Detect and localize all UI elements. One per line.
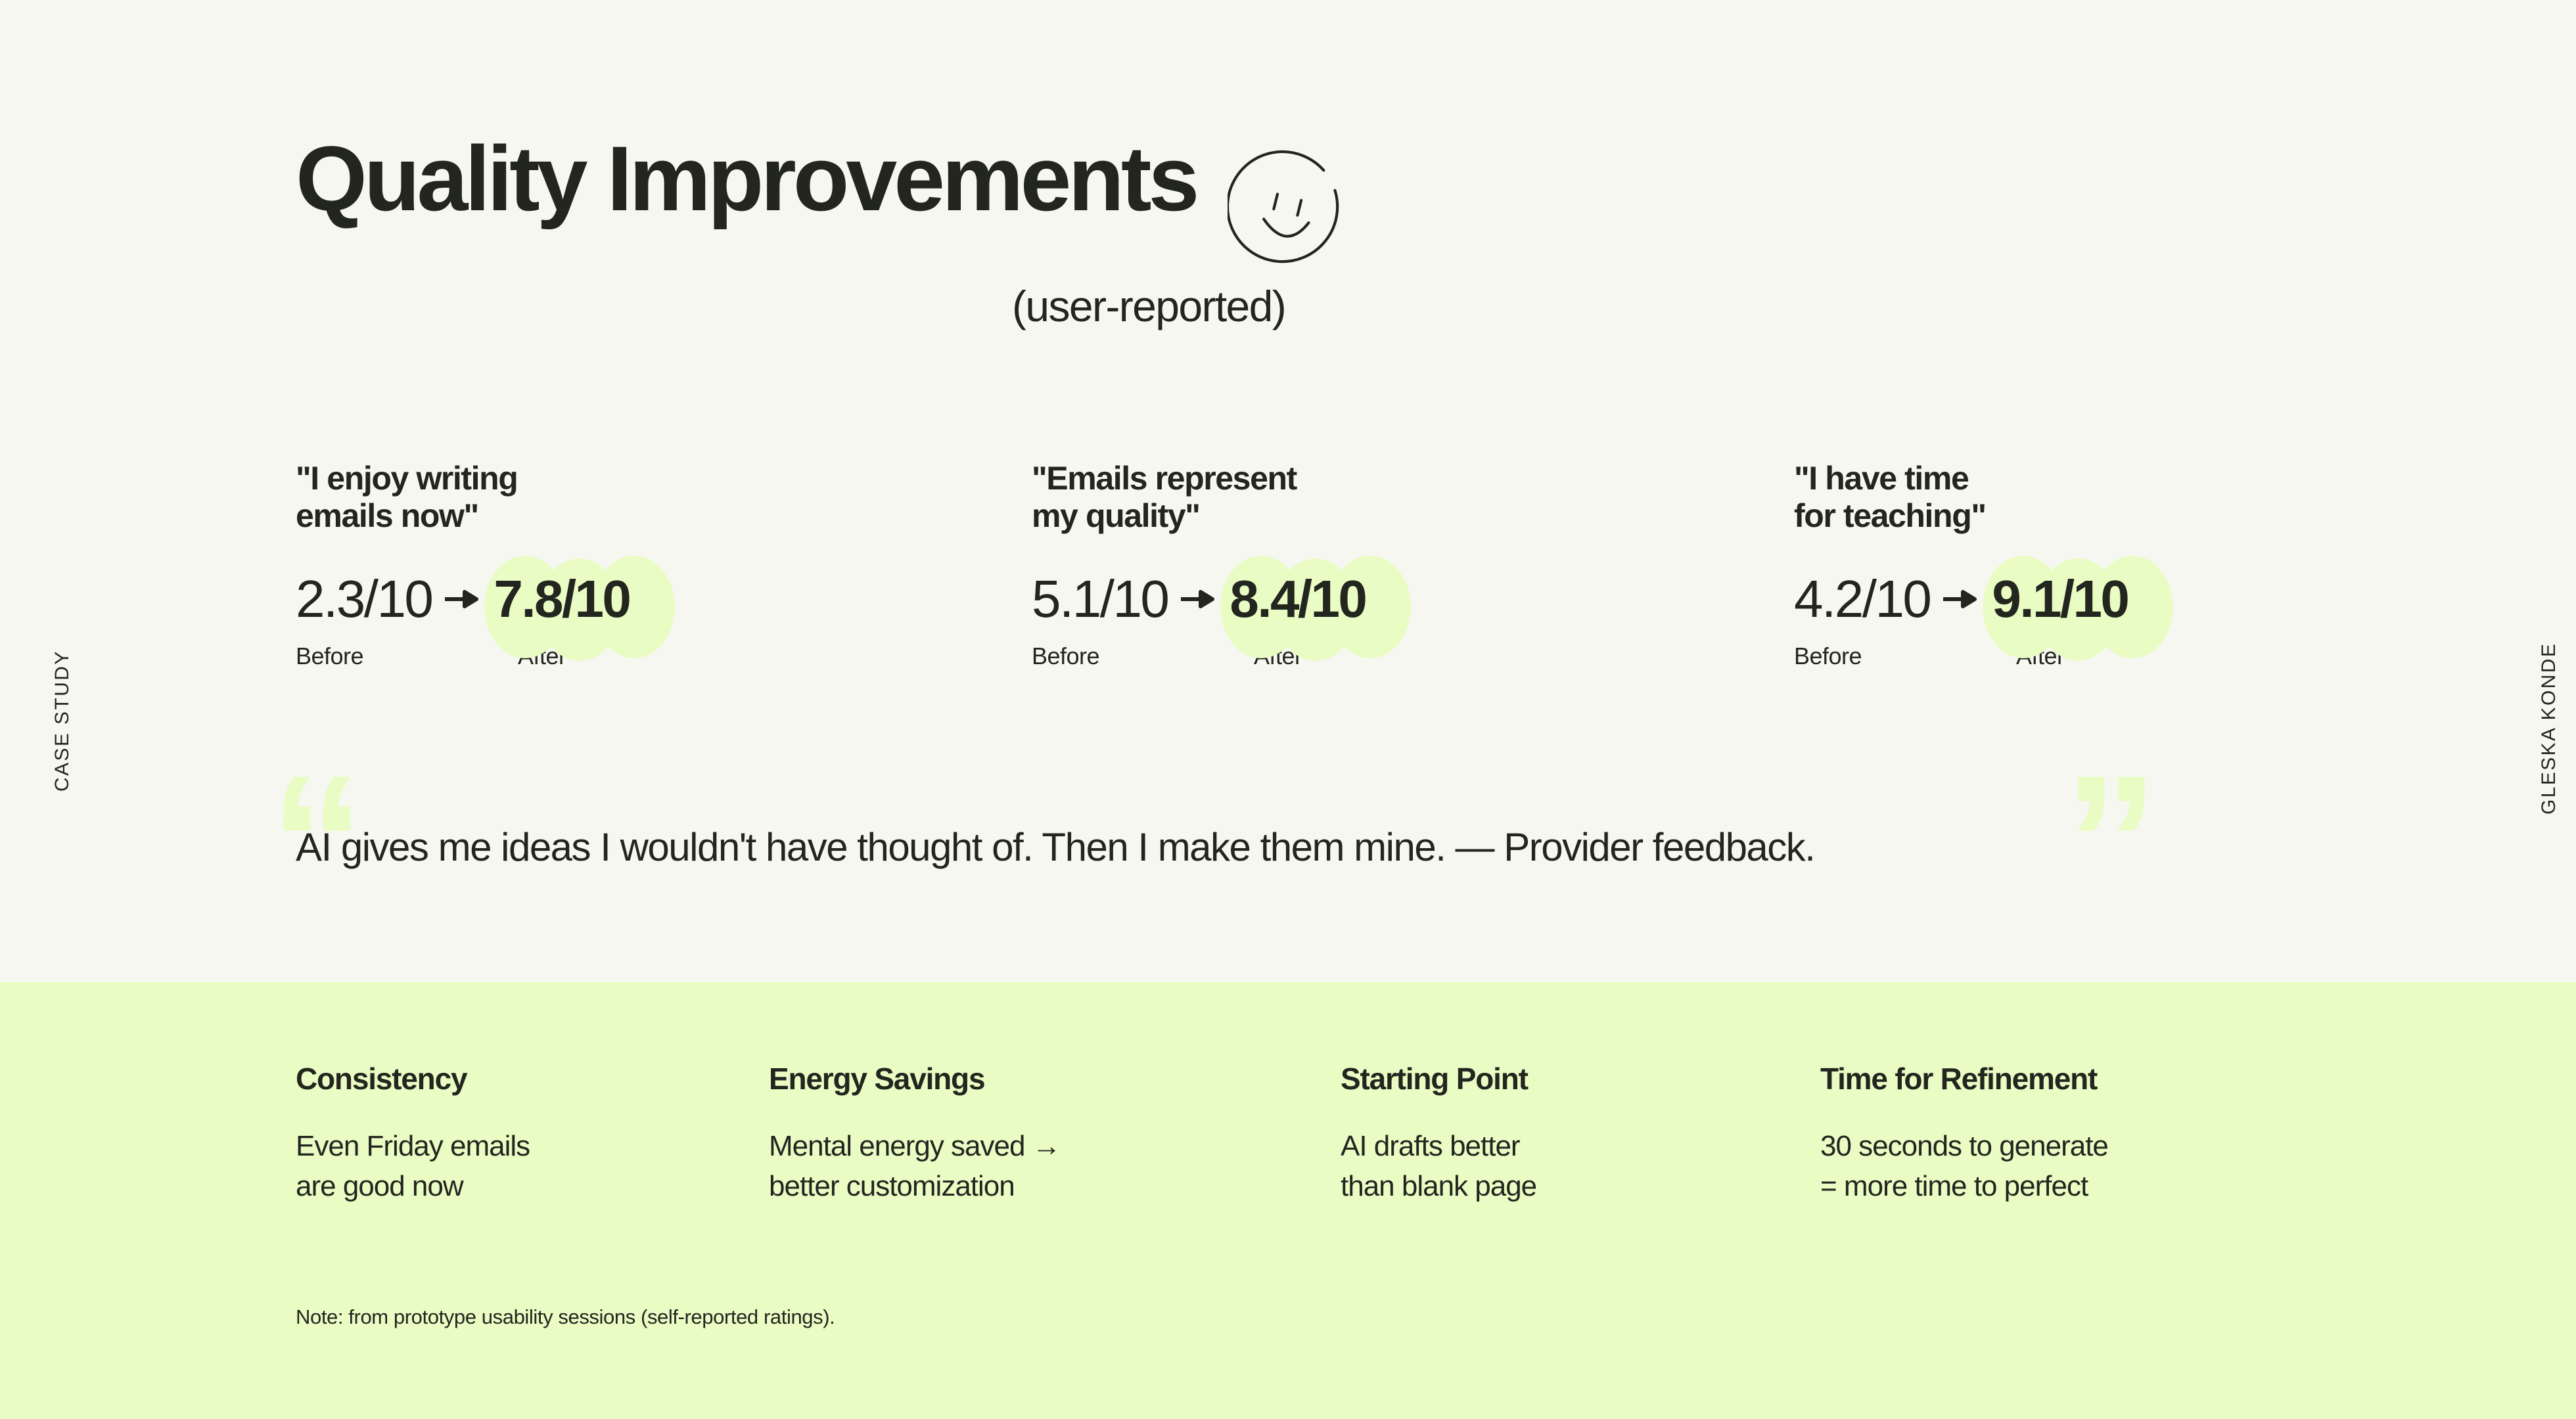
after-value-3: 9.1/10 (1992, 570, 2128, 628)
before-label-3: Before (1794, 642, 2016, 670)
footer-card-consistency: Consistency Even Friday emails are good … (296, 1061, 769, 1206)
card-title: Time for Refinement (1820, 1061, 2320, 1096)
footer-card-time-for-refinement: Time for Refinement 30 seconds to genera… (1820, 1061, 2320, 1206)
case-study-rail-label: CASE STUDY (51, 650, 74, 792)
stat-labels-1: Before After (296, 642, 1032, 670)
stat-quote-1: "I enjoy writing emails now" (296, 460, 1032, 535)
stat-column-2: "Emails represent my quality" 5.1/10 (1032, 460, 1794, 670)
stat-column-3: "I have time for teaching" 4.2/10 (1794, 460, 2307, 670)
after-label-2: After (1254, 642, 1302, 670)
page-title: Quality Improvements (296, 135, 1196, 222)
after-value-wrap-1: 7.8/10 (494, 573, 630, 625)
quote-mark-close-icon: ” (2063, 747, 2159, 937)
stat-values-1: 2.3/10 (296, 573, 1032, 625)
card-body: Mental energy saved → better customizati… (769, 1127, 1341, 1206)
stat-values-3: 4.2/10 (1794, 573, 2307, 625)
after-value-wrap-3: 9.1/10 (1992, 573, 2128, 625)
pull-quote-block: “ ” AI gives me ideas I wouldn't have th… (296, 824, 1814, 870)
card-title: Starting Point (1341, 1061, 1820, 1096)
footer-cards: Consistency Even Friday emails are good … (296, 1061, 2320, 1206)
arrow-right-icon (444, 586, 482, 612)
stat-labels-3: Before After (1794, 642, 2307, 670)
footer-card-energy-savings: Energy Savings Mental energy saved → bet… (769, 1061, 1341, 1206)
card-body: Even Friday emails are good now (296, 1127, 769, 1206)
after-value-1: 7.8/10 (494, 570, 630, 628)
stat-column-1: "I enjoy writing emails now" 2.3/10 (296, 460, 1032, 670)
card-body: 30 seconds to generate = more time to pe… (1820, 1127, 2320, 1206)
before-value-3: 4.2/10 (1794, 573, 1930, 625)
arrow-right-icon (1180, 586, 1218, 612)
after-label-3: After (2016, 642, 2065, 670)
footer-card-starting-point: Starting Point AI drafts better than bla… (1341, 1061, 1820, 1206)
card-body: AI drafts better than blank page (1341, 1127, 1820, 1206)
stat-quote-3: "I have time for teaching" (1794, 460, 2307, 535)
title-row: Quality Improvements (296, 135, 1352, 277)
before-label-1: Before (296, 642, 518, 670)
after-value-2: 8.4/10 (1230, 570, 1366, 628)
before-value-1: 2.3/10 (296, 573, 432, 625)
stat-values-2: 5.1/10 (1032, 573, 1794, 625)
smiley-face-icon (1228, 149, 1352, 277)
before-label-2: Before (1032, 642, 1254, 670)
pull-quote-text: AI gives me ideas I wouldn't have though… (296, 824, 1814, 870)
card-title: Consistency (296, 1061, 769, 1096)
arrow-right-icon (1942, 586, 1980, 612)
stat-quote-2: "Emails represent my quality" (1032, 460, 1794, 535)
stats-section: "I enjoy writing emails now" 2.3/10 (296, 460, 2307, 670)
stats-grid: "I enjoy writing emails now" 2.3/10 (296, 460, 2307, 670)
after-value-wrap-2: 8.4/10 (1230, 573, 1366, 625)
brand-rail-label: GLESKA KONDE (2538, 642, 2560, 815)
before-value-2: 5.1/10 (1032, 573, 1168, 625)
stat-labels-2: Before After (1032, 642, 1794, 670)
after-label-1: After (518, 642, 566, 670)
page-subtitle: (user-reported) (1012, 281, 1352, 331)
footnote: Note: from prototype usability sessions … (296, 1305, 835, 1329)
card-title: Energy Savings (769, 1061, 1341, 1096)
page-header: Quality Improvements (user-reported) (296, 135, 1352, 331)
